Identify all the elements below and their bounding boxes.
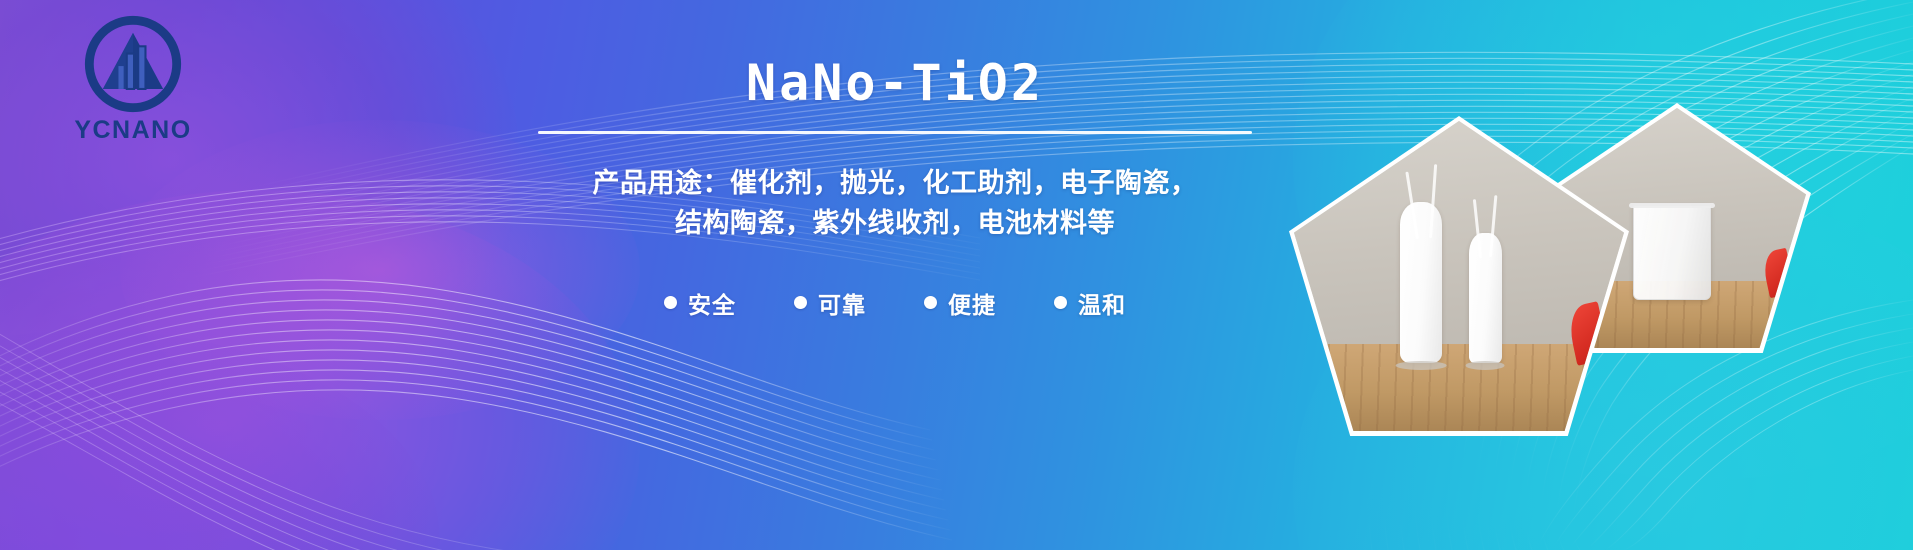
feature-item-safe: 安全 — [664, 286, 736, 320]
product-banner: YCNANO NaNo-TiO2 产品用途：催化剂，抛光，化工助剂，电子陶瓷， … — [0, 0, 1913, 550]
product-usage-text: 产品用途：催化剂，抛光，化工助剂，电子陶瓷， 结构陶瓷，紫外线收剂，电池材料等 — [593, 164, 1198, 244]
feature-label: 温和 — [1078, 286, 1126, 320]
filled-circle-bullet-icon — [794, 296, 807, 309]
usage-line-1: 产品用途：催化剂，抛光，化工助剂，电子陶瓷， — [593, 164, 1198, 204]
product-shot-vases — [1289, 116, 1629, 436]
ycnano-triangle-circle-logo-icon — [81, 12, 185, 116]
feature-label: 便捷 — [948, 286, 996, 320]
page-title: NaNo-TiO2 — [746, 58, 1044, 108]
photo-wood-floor — [1294, 344, 1624, 431]
brand-logo[interactable]: YCNANO — [38, 12, 228, 162]
product-shots — [1253, 0, 1913, 550]
feature-label: 安全 — [688, 286, 736, 320]
filled-circle-bullet-icon — [1054, 296, 1067, 309]
usage-line-2: 结构陶瓷，紫外线收剂，电池材料等 — [593, 204, 1198, 244]
tall-white-vase — [1400, 202, 1443, 363]
title-divider — [538, 131, 1252, 134]
filled-circle-bullet-icon — [924, 296, 937, 309]
slim-white-vase — [1469, 233, 1502, 363]
purple-glow-bottom-left — [0, 330, 440, 550]
vases-photo-inner — [1294, 121, 1624, 431]
beaker-with-white-liquid — [1633, 204, 1710, 300]
hero-content: NaNo-TiO2 产品用途：催化剂，抛光，化工助剂，电子陶瓷， 结构陶瓷，紫外… — [480, 58, 1310, 320]
feature-label: 可靠 — [818, 286, 866, 320]
white-vases-photo — [1294, 121, 1624, 431]
brand-wordmark: YCNANO — [74, 118, 191, 143]
feature-item-reliable: 可靠 — [794, 286, 866, 320]
feature-item-mild: 温和 — [1054, 286, 1126, 320]
feature-item-convenient: 便捷 — [924, 286, 996, 320]
filled-circle-bullet-icon — [664, 296, 677, 309]
feature-list: 安全 可靠 便捷 温和 — [664, 286, 1126, 320]
